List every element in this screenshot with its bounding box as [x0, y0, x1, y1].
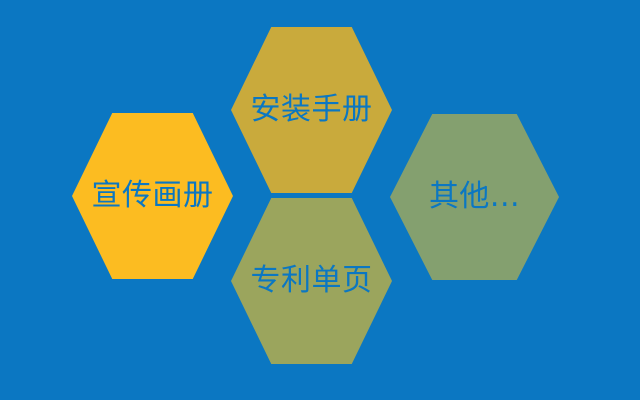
diagram-canvas: 宣传画册 安装手册 专利单页 其他...	[0, 0, 640, 400]
hexagon-patent-label: 专利单页	[251, 266, 373, 296]
hexagon-brochure[interactable]: 宣传画册	[72, 113, 233, 279]
hexagon-other[interactable]: 其他...	[390, 114, 559, 280]
hexagon-patent[interactable]: 专利单页	[231, 198, 392, 364]
hexagon-brochure-label: 宣传画册	[92, 181, 214, 211]
hexagon-other-label: 其他...	[429, 182, 520, 212]
hexagon-manual[interactable]: 安装手册	[231, 27, 392, 193]
hexagon-manual-label: 安装手册	[251, 95, 373, 125]
